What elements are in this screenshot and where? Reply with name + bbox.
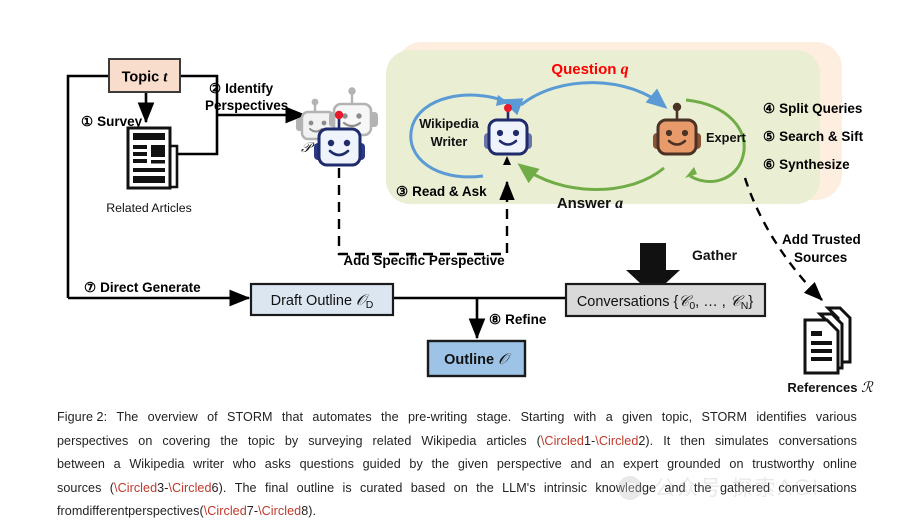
caption-word: STORM <box>227 406 273 430</box>
figure-caption: Figure 2:TheoverviewofSTORMthatautomates… <box>57 406 857 524</box>
step-6-number: ⑥ <box>763 157 775 172</box>
step-2-number: ② <box>209 81 221 96</box>
caption-word: articles <box>486 430 526 454</box>
caption-word: perspectives <box>128 504 199 518</box>
caption-word: between <box>57 453 105 477</box>
caption-word: based <box>411 477 446 501</box>
references-icon <box>805 308 850 373</box>
draft-outline-box: Draft Outline 𝒪D <box>251 284 393 315</box>
caption-word: grounded <box>667 453 721 477</box>
caption-word: simulates <box>715 430 769 454</box>
caption-word: overview <box>148 406 198 430</box>
caption-word: conversations <box>778 477 856 501</box>
caption-word: a <box>606 406 613 430</box>
add-specific-perspective-label: Add Specific Perspective <box>343 253 505 268</box>
question-label: Question q <box>551 61 628 78</box>
caption-line-3: betweenaWikipediawriterwhoasksquestionsg… <box>57 453 857 477</box>
gather-label: Gather <box>692 247 738 263</box>
caption-word: who <box>233 453 256 477</box>
caption-word: (\Circled3-\Circled6). <box>110 477 227 501</box>
caption-word: by <box>285 430 298 454</box>
caption-line-5: fromdifferentperspectives(\Circled7-\Cir… <box>57 500 857 524</box>
step-8-label: Refine <box>505 312 547 327</box>
caption-word: outline <box>297 477 334 501</box>
conversations-box: Conversations {𝒞0, … , 𝒞N} <box>566 284 765 316</box>
caption-word: is <box>342 477 351 501</box>
perspective-symbol-label: 𝒫 <box>301 141 315 156</box>
caption-word: perspective <box>497 453 562 477</box>
caption-word: The <box>116 406 138 430</box>
step-4-number: ④ <box>763 101 775 116</box>
caption-word: Wikipedia <box>129 453 184 477</box>
caption-word: knowledge <box>595 477 656 501</box>
caption-word: by <box>409 453 422 477</box>
caption-word: surveying <box>308 430 362 454</box>
step-8-number: ⑧ <box>489 312 501 327</box>
step-5-label: Search & Sift <box>779 129 864 144</box>
step-1-number: ① <box>81 114 93 129</box>
answer-label: Answer a <box>557 195 623 212</box>
caption-word: on <box>138 430 152 454</box>
draft-outline-label: Draft Outline 𝒪D <box>271 292 374 311</box>
caption-word: of <box>207 406 218 430</box>
caption-word: given <box>458 453 488 477</box>
related-articles-label: Related Articles <box>106 201 191 215</box>
caption-word: related <box>373 430 412 454</box>
caption-line-4: sources(\Circled3-\Circled6).Thefinalout… <box>57 477 857 501</box>
references-label: References ℛ <box>787 380 874 396</box>
caption-word: (\Circled7-\Circled8). <box>199 504 316 518</box>
step-7-direct-generate: ⑦Direct Generate <box>84 280 201 295</box>
caption-word: from <box>57 504 82 518</box>
caption-word: and <box>664 477 685 501</box>
caption-line-1: Figure 2:TheoverviewofSTORMthatautomates… <box>57 406 857 430</box>
step-7-label: Direct Generate <box>100 280 201 295</box>
step-8-refine: ⑧Refine <box>489 312 547 327</box>
outline-label: Outline 𝒪 <box>444 351 512 368</box>
wikipedia-writer-label-line1: Wikipedia <box>419 116 479 131</box>
caption-word: an <box>600 453 614 477</box>
caption-word: sources <box>57 477 101 501</box>
caption-word: curated <box>360 477 402 501</box>
caption-word: intrinsic <box>544 477 587 501</box>
caption-word: on <box>729 453 743 477</box>
caption-word: various <box>816 406 857 430</box>
topic-box: Topic t <box>109 59 180 92</box>
caption-word: asks <box>265 453 291 477</box>
caption-word: the <box>381 406 399 430</box>
caption-word: the <box>220 430 238 454</box>
step-3-number: ③ <box>396 184 408 199</box>
caption-word: gathered <box>720 477 770 501</box>
caption-word: then <box>680 430 705 454</box>
caption-word: final <box>265 477 288 501</box>
svg-text:②Identify: ②Identify <box>209 81 274 96</box>
step-2-label-line2: Perspectives <box>205 98 288 113</box>
step-5-number: ⑤ <box>763 129 775 144</box>
svg-text:⑦Direct Generate: ⑦Direct Generate <box>84 280 201 295</box>
caption-word: STORM <box>702 406 748 430</box>
step-6-label: Synthesize <box>779 157 850 172</box>
related-articles-icon <box>128 128 177 188</box>
caption-word: with <box>574 406 597 430</box>
caption-word: automates <box>312 406 371 430</box>
caption-word: It <box>663 430 670 454</box>
caption-word: writer <box>193 453 224 477</box>
caption-word: (\Circled1-\Circled2). <box>537 430 654 454</box>
caption-word: online <box>823 453 857 477</box>
caption-word: expert <box>623 453 658 477</box>
caption-word: perspectives <box>57 430 128 454</box>
caption-word: questions <box>300 453 354 477</box>
figure-storm-overview: Topic t ①Survey Related Articles ②Identi… <box>0 0 913 400</box>
outline-box: Outline 𝒪 <box>428 341 525 376</box>
caption-word: trustworthy <box>752 453 814 477</box>
caption-word: The <box>235 477 257 501</box>
topic-label: Topic t <box>122 70 169 86</box>
caption-word: the <box>476 477 494 501</box>
caption-word: a <box>114 453 121 477</box>
caption-word: covering <box>162 430 210 454</box>
caption-word: given <box>622 406 652 430</box>
caption-word: stage. <box>477 406 512 430</box>
caption-word: Starting <box>521 406 565 430</box>
step-3-label: Read & Ask <box>412 184 487 199</box>
step-2-label-line1: Identify <box>225 81 273 96</box>
caption-word: different <box>82 504 128 518</box>
caption-word: identifies <box>756 406 806 430</box>
conversations-label: Conversations {𝒞0, … , 𝒞N} <box>577 294 754 312</box>
caption-word: the <box>432 453 450 477</box>
caption-word: the <box>694 477 712 501</box>
expert-label: Expert <box>706 130 747 145</box>
caption-word: Figure 2: <box>57 406 107 430</box>
caption-line-2: perspectivesoncoveringthetopicbysurveyin… <box>57 430 857 454</box>
caption-word: on <box>454 477 468 501</box>
caption-word: Wikipedia <box>421 430 476 454</box>
caption-word: pre-writing <box>408 406 467 430</box>
caption-word: that <box>282 406 303 430</box>
caption-word: guided <box>363 453 401 477</box>
svg-text:⑧Refine: ⑧Refine <box>489 312 547 327</box>
add-trusted-sources-label-line2: Sources <box>794 250 847 265</box>
caption-word: topic, <box>662 406 692 430</box>
add-trusted-sources-label-line1: Add Trusted <box>782 232 861 247</box>
step-4-label: Split Queries <box>779 101 862 116</box>
caption-word: and <box>571 453 592 477</box>
wikipedia-writer-label-line2: Writer <box>431 134 468 149</box>
caption-word: topic <box>248 430 275 454</box>
caption-word: conversations <box>779 430 857 454</box>
step-7-number: ⑦ <box>84 280 96 295</box>
caption-word: LLM's <box>502 477 535 501</box>
